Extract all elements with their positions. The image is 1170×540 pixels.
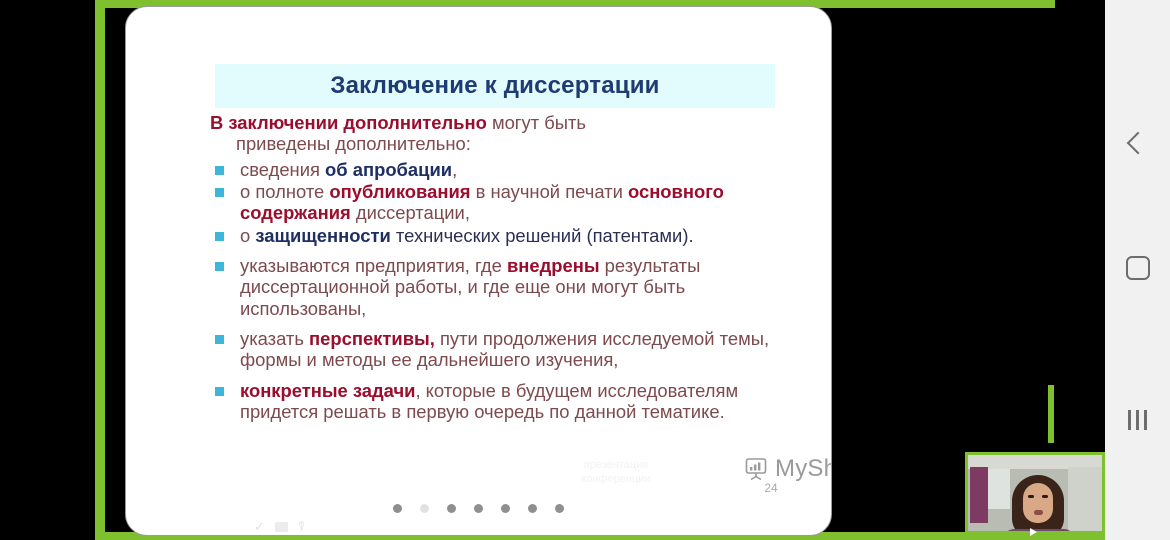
pager-dot[interactable] [474, 504, 483, 513]
bullet-text-run: о [240, 225, 255, 246]
slide-intro-bold: В заключении дополнительно [210, 112, 487, 133]
slide-intro: В заключении дополнительно могут быть пр… [210, 112, 790, 155]
myshared-wordmark: MyShared [775, 455, 832, 483]
video-curtain [970, 467, 988, 523]
pager-dot[interactable] [501, 504, 510, 513]
three-vertical-bars-icon [1128, 410, 1147, 430]
play-icon[interactable] [1030, 528, 1037, 536]
bullet-text-run: конкретные задачи [240, 380, 415, 401]
slide-bullet-item: указываются предприятия, где внедрены ре… [210, 255, 790, 319]
bullet-text-run: об апробации [325, 159, 452, 180]
rectangle-icon[interactable] [275, 522, 288, 532]
presentation-board-icon [743, 456, 769, 482]
video-person-eye-right [1042, 495, 1048, 498]
bullet-square-icon [215, 166, 224, 175]
playback-progress-tick [1048, 385, 1054, 443]
slide-bullet-item: о полноте опубликования в научной печати… [210, 181, 790, 224]
presenter-video-thumbnail[interactable] [965, 452, 1105, 540]
slide-body: В заключении дополнительно могут быть пр… [210, 112, 790, 423]
bullet-text-run: о полноте [240, 181, 329, 202]
left-black-margin [0, 0, 95, 540]
video-right-wall [1068, 467, 1102, 531]
slide-pager-dots[interactable] [126, 504, 831, 513]
slide-card[interactable]: Заключение к диссертации В заключении до… [125, 6, 832, 536]
bullet-square-icon [215, 262, 224, 271]
pager-dot[interactable] [420, 504, 429, 513]
slide-mini-toolbar[interactable]: ✓ ⍒ [254, 519, 306, 535]
video-person-eye-left [1028, 495, 1034, 498]
bullet-text-run: диссертации, [351, 202, 470, 223]
slide-intro-rest: могут быть [487, 112, 586, 133]
bullet-text-run: опубликования [329, 181, 470, 202]
chevron-left-icon [1126, 132, 1149, 155]
pager-dot[interactable] [555, 504, 564, 513]
slide-bullet-item: сведения об апробации, [210, 159, 790, 180]
slide-bullet-list: сведения об апробации,о полноте опублико… [210, 159, 790, 423]
watermark-line-2: конференции [506, 473, 726, 487]
check-icon[interactable]: ✓ [254, 519, 265, 535]
bullet-square-icon [215, 232, 224, 241]
shape-icon[interactable]: ⍒ [298, 519, 306, 535]
bullet-text-run: защищенности [255, 225, 390, 246]
pager-dot[interactable] [528, 504, 537, 513]
bullet-text-run: указываются предприятия, где [240, 255, 507, 276]
slide-title: Заключение к диссертации [330, 72, 659, 100]
pager-dot[interactable] [447, 504, 456, 513]
slide-bullet-item: указать перспективы, пути продолжения ис… [210, 328, 790, 371]
bullet-text-run: внедрены [507, 255, 600, 276]
bullet-square-icon [215, 387, 224, 396]
slide-watermark: презентация конференции [506, 459, 726, 487]
slide-page-number: 24 [726, 481, 816, 495]
rounded-square-icon [1126, 256, 1150, 280]
bullet-text-run: указать [240, 328, 309, 349]
bullet-square-icon [215, 335, 224, 344]
bullet-text-run: перспективы, [309, 328, 435, 349]
video-window [988, 469, 1010, 509]
video-person-mouth [1034, 510, 1043, 515]
nav-back-button[interactable] [1105, 115, 1170, 171]
bullet-text-run: сведения [240, 159, 325, 180]
slide-title-band: Заключение к диссертации [215, 64, 775, 108]
bullet-text-run: технических решений (патентами). [391, 225, 694, 246]
system-nav-panel [1105, 0, 1170, 540]
slide-bullet-item: конкретные задачи, которые в будущем исс… [210, 380, 790, 423]
bullet-text-run: в научной печати [470, 181, 628, 202]
nav-home-button[interactable] [1105, 240, 1170, 296]
bullet-text-run: , [452, 159, 457, 180]
myshared-logo[interactable]: MyShared [743, 455, 832, 483]
bullet-square-icon [215, 188, 224, 197]
watermark-line-1: презентация [506, 459, 726, 473]
slide-bullet-item: о защищенности технических решений (пате… [210, 225, 790, 246]
video-person-face [1023, 483, 1053, 523]
pager-dot[interactable] [393, 504, 402, 513]
nav-recent-apps-button[interactable] [1105, 392, 1170, 448]
screen-root: Заключение к диссертации В заключении до… [0, 0, 1170, 540]
slide-intro-line2: приведены дополнительно: [236, 133, 790, 154]
